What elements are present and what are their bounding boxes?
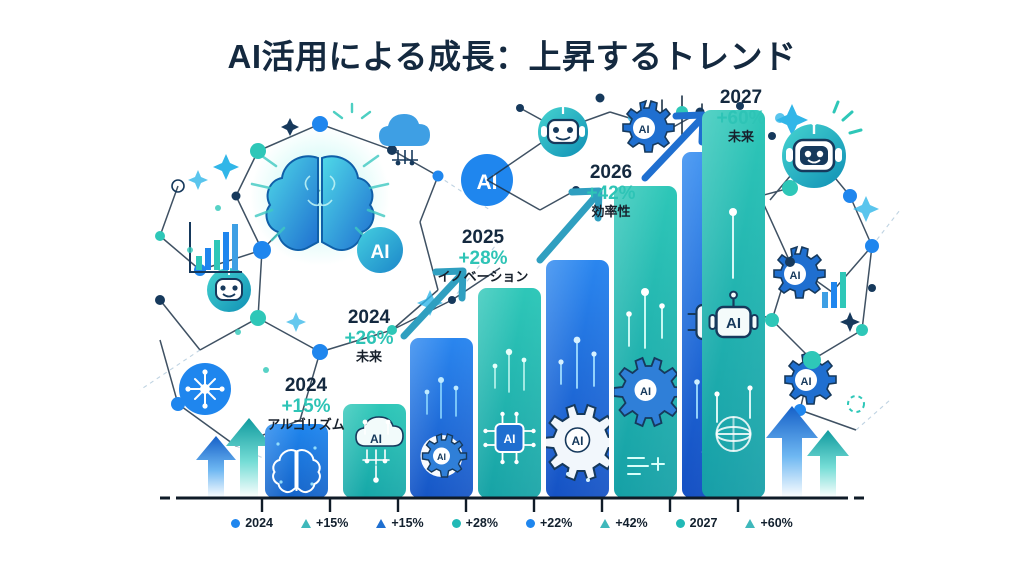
annotation-tag: 効率性 (570, 204, 652, 220)
svg-text:AI: AI (437, 452, 446, 462)
legend-item[interactable]: +60% (745, 516, 792, 530)
legend-marker-circle-icon (452, 519, 461, 528)
bar-annotation-2: 2024 +26% 未来 (324, 308, 414, 365)
annotation-tag: イノベーション (428, 269, 538, 285)
svg-text:AI: AI (504, 432, 516, 446)
bar-annotation-5: 2027 +60% 未来 (700, 88, 782, 145)
legend-item[interactable]: 2024 (231, 516, 273, 530)
legend-label: 2027 (690, 516, 718, 530)
bar-annotation-4: 2026 +42% 効率性 (570, 163, 652, 220)
legend-label: +28% (466, 516, 498, 530)
legend-label: +22% (540, 516, 572, 530)
ai-gear-large-icon: AI (546, 260, 609, 498)
annotation-tag: アルゴリズム (258, 417, 354, 433)
annotation-percent: +42% (570, 183, 652, 204)
annotation-percent: +26% (324, 328, 414, 349)
annotation-percent: +60% (700, 108, 782, 129)
legend-label: +15% (391, 516, 423, 530)
annotation-tag: 未来 (324, 349, 414, 365)
ai-chip-icon: AI (478, 288, 541, 498)
svg-text:AI: AI (572, 434, 584, 448)
legend-marker-circle-icon (676, 519, 685, 528)
ai-gear-icon: AI (410, 338, 473, 498)
legend-item[interactable]: +15% (376, 516, 423, 530)
annotation-tag: 未来 (700, 129, 782, 145)
legend-label: 2024 (245, 516, 273, 530)
annotation-year: 2027 (700, 88, 782, 108)
bar-8[interactable]: AI (702, 110, 765, 498)
svg-text:AI: AI (370, 432, 382, 446)
legend-item[interactable]: +28% (452, 516, 498, 530)
legend-item[interactable]: +42% (600, 516, 647, 530)
legend-item[interactable]: 2027 (676, 516, 718, 530)
legend-marker-triangle-icon (301, 519, 311, 528)
legend-marker-triangle-icon (600, 519, 610, 528)
legend-item[interactable]: +15% (301, 516, 348, 530)
svg-text:AI: AI (640, 386, 651, 398)
list-lines-icon (628, 458, 664, 474)
chart-legend: 2024 +15% +15% +28% +22% +42% 2027 +60% (0, 516, 1024, 530)
svg-text:AI: AI (726, 315, 741, 332)
data-globe-icon (717, 417, 751, 451)
legend-marker-circle-icon (526, 519, 535, 528)
ai-robot-icon: AI (702, 110, 765, 498)
annotation-year: 2024 (324, 308, 414, 328)
infographic-canvas: AI AI (0, 0, 1024, 572)
bars-layer: AI AI (0, 0, 1024, 572)
legend-marker-circle-icon (231, 519, 240, 528)
legend-label: +15% (316, 516, 348, 530)
annotation-percent: +15% (258, 396, 354, 417)
legend-label: +60% (760, 516, 792, 530)
bar-3[interactable]: AI (410, 338, 473, 498)
bar-annotation-1: 2024 +15% アルゴリズム (258, 376, 354, 433)
legend-label: +42% (615, 516, 647, 530)
brain-icon (265, 424, 328, 498)
annotation-year: 2024 (258, 376, 354, 396)
ai-gear-blue-icon: AI (614, 186, 677, 498)
legend-marker-triangle-icon (376, 519, 386, 528)
legend-item[interactable]: +22% (526, 516, 572, 530)
legend-marker-triangle-icon (745, 519, 755, 528)
annotation-percent: +28% (428, 248, 538, 269)
bar-6[interactable]: AI (614, 186, 677, 498)
bar-1[interactable] (265, 424, 328, 498)
bar-annotation-3: 2025 +28% イノベーション (428, 228, 538, 285)
annotation-year: 2025 (428, 228, 538, 248)
annotation-year: 2026 (570, 163, 652, 183)
bar-5[interactable]: AI (546, 260, 609, 498)
bar-4[interactable]: AI (478, 288, 541, 498)
